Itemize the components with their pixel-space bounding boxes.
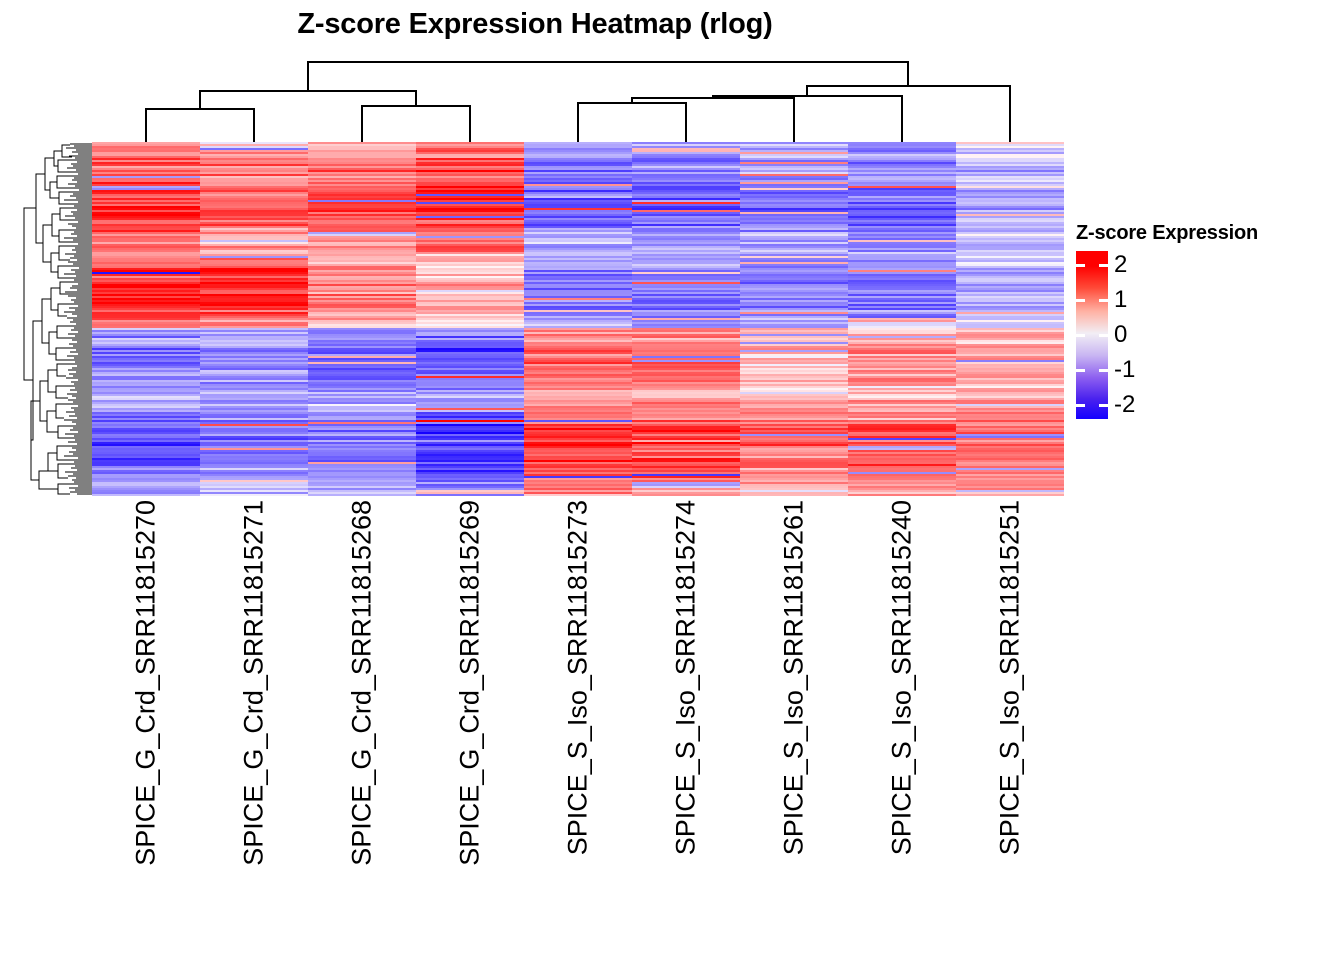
- heatmap-column: [740, 142, 848, 496]
- column-label-slot: SPICE_S_Iso_SRR11815274: [632, 500, 740, 930]
- legend-title: Z-score Expression: [1076, 222, 1334, 245]
- column-label: SPICE_S_Iso_SRR11815273: [563, 500, 594, 855]
- column-dendrogram: [92, 56, 1064, 142]
- legend-tick-label: 0: [1114, 321, 1127, 349]
- column-label-slot: SPICE_G_Crd_SRR11815271: [200, 500, 308, 930]
- column-labels: SPICE_G_Crd_SRR11815270SPICE_G_Crd_SRR11…: [92, 500, 1064, 930]
- column-dendrogram-svg: [92, 56, 1064, 142]
- column-label: SPICE_S_Iso_SRR11815261: [779, 500, 810, 855]
- heatmap-grid: [92, 142, 1064, 496]
- legend-tick-mark: [1076, 334, 1085, 337]
- column-label: SPICE_G_Crd_SRR11815269: [455, 500, 486, 866]
- column-label-slot: SPICE_S_Iso_SRR11815261: [740, 500, 848, 930]
- column-label-slot: SPICE_G_Crd_SRR11815270: [92, 500, 200, 930]
- legend-tick-mark: [1099, 264, 1108, 267]
- heatmap-figure: Z-score Expression Heatmap (rlog): [0, 0, 1344, 960]
- row-dendrogram-svg: [14, 142, 92, 496]
- legend-tick-mark: [1076, 369, 1085, 372]
- column-label: SPICE_G_Crd_SRR11815268: [347, 500, 378, 866]
- page-title: Z-score Expression Heatmap (rlog): [0, 8, 1070, 41]
- row-dendrogram: [14, 142, 92, 496]
- heatmap-cell: [848, 494, 956, 496]
- heatmap-cell: [200, 494, 308, 496]
- legend-tick-mark: [1099, 369, 1108, 372]
- heatmap-column: [200, 142, 308, 496]
- legend-tick-mark: [1076, 404, 1085, 407]
- column-label-slot: SPICE_G_Crd_SRR11815269: [416, 500, 524, 930]
- heatmap-column: [416, 142, 524, 496]
- column-label-slot: SPICE_S_Iso_SRR11815273: [524, 500, 632, 930]
- heatmap-column: [848, 142, 956, 496]
- legend-tick-label: 2: [1114, 251, 1127, 279]
- heatmap-column: [92, 142, 200, 496]
- column-label-slot: SPICE_S_Iso_SRR11815251: [956, 500, 1064, 930]
- colorbar-legend: Z-score Expression 210-1-2: [1074, 222, 1334, 429]
- column-label: SPICE_G_Crd_SRR11815271: [239, 500, 270, 866]
- heatmap-column: [632, 142, 740, 496]
- legend-tick-label: 1: [1114, 286, 1127, 314]
- heatmap-cell: [632, 494, 740, 496]
- legend-tick-label: -1: [1114, 356, 1135, 384]
- legend-tick-mark: [1076, 299, 1085, 302]
- heatmap-cell: [740, 494, 848, 496]
- legend-tick-mark: [1076, 264, 1085, 267]
- heatmap-column: [308, 142, 416, 496]
- heatmap-cell: [416, 494, 524, 496]
- legend-tick-mark: [1099, 404, 1108, 407]
- heatmap-column: [524, 142, 632, 496]
- column-label: SPICE_G_Crd_SRR11815270: [131, 500, 162, 866]
- column-label-slot: SPICE_G_Crd_SRR11815268: [308, 500, 416, 930]
- legend-tick-mark: [1099, 334, 1108, 337]
- legend-tick-mark: [1099, 299, 1108, 302]
- legend-tick-label: -2: [1114, 391, 1135, 419]
- heatmap-cell: [524, 494, 632, 496]
- column-label-slot: SPICE_S_Iso_SRR11815240: [848, 500, 956, 930]
- heatmap-cell: [308, 494, 416, 496]
- column-label: SPICE_S_Iso_SRR11815251: [995, 500, 1026, 855]
- heatmap-cell: [92, 494, 200, 496]
- heatmap-cell: [956, 494, 1064, 496]
- column-label: SPICE_S_Iso_SRR11815274: [671, 500, 702, 855]
- heatmap-column: [956, 142, 1064, 496]
- column-label: SPICE_S_Iso_SRR11815240: [887, 500, 918, 855]
- legend-body: 210-1-2: [1074, 251, 1314, 429]
